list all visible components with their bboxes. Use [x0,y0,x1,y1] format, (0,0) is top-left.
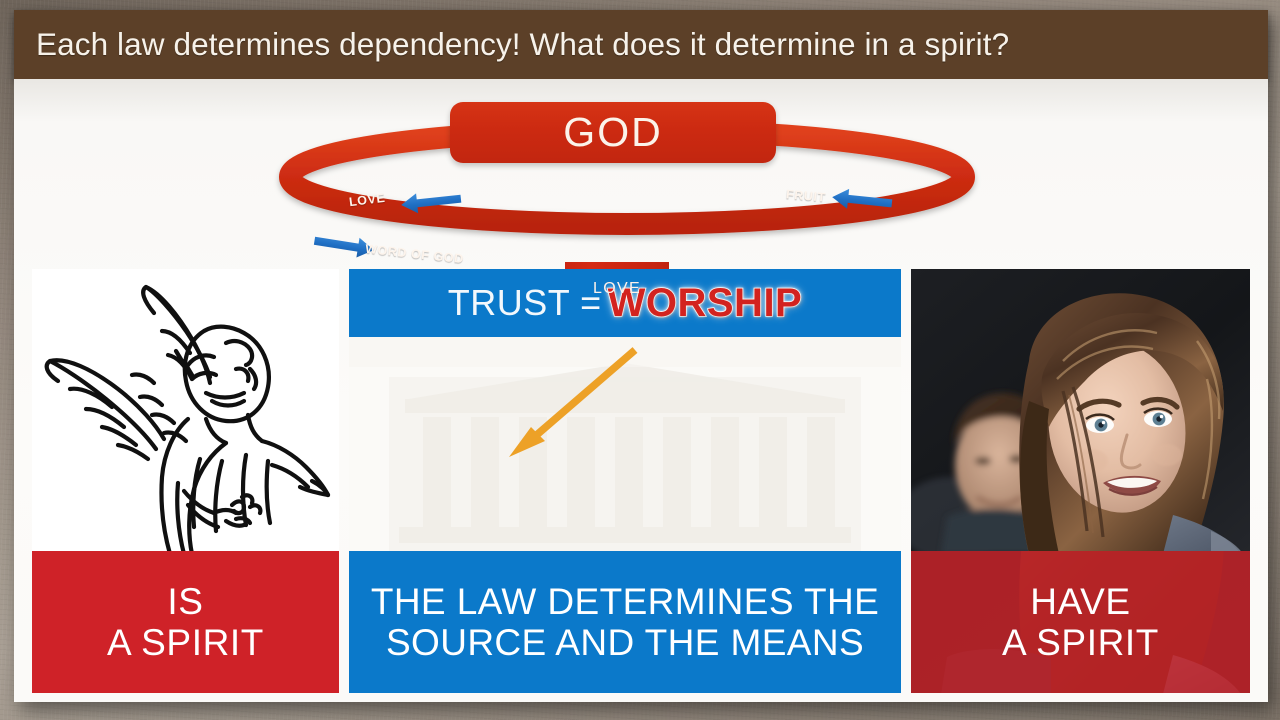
banner-mid-line1: THE LAW DETERMINES THE [371,581,879,622]
page-title: Each law determines dependency! What doe… [36,25,1009,62]
banner-is-a-spirit: IS A SPIRIT [32,551,339,693]
arrow-down-left-icon [349,337,901,554]
slide-title-bar: Each law determines dependency! What doe… [14,10,1268,79]
banner-mid-line2: SOURCE AND THE MEANS [386,622,864,663]
slide-canvas: GOD [14,79,1268,702]
center-body [349,337,901,554]
angel-line-drawing-icon [36,269,336,554]
center-column: TRUST = WORSHIP [349,269,901,554]
bottom-banner-row: IS A SPIRIT THE LAW DETERMINES THE SOURC… [32,551,1250,693]
banner-left-line2: A SPIRIT [107,622,264,663]
smiling-young-woman-photo [911,269,1250,554]
angel-illustration-panel [32,269,339,554]
arrow-left-icon-fruit [831,187,893,213]
god-cycle-diagram: GOD [14,79,1268,269]
ring-arrow-group [14,79,1268,269]
banner-have-a-spirit: HAVE A SPIRIT [911,551,1250,693]
banner-right-line1: HAVE [1030,581,1130,622]
presentation-slide: Each law determines dependency! What doe… [14,10,1268,702]
banner-left-line1: IS [167,581,203,622]
banner-right-line2: A SPIRIT [1002,622,1159,663]
banner-law-determines: THE LAW DETERMINES THE SOURCE AND THE ME… [349,551,901,693]
love-arrow-label: LOVE [487,280,747,298]
photo-panel [911,269,1250,554]
desktop-backdrop: Each law determines dependency! What doe… [0,0,1280,720]
arrow-left-icon-love [400,189,462,215]
